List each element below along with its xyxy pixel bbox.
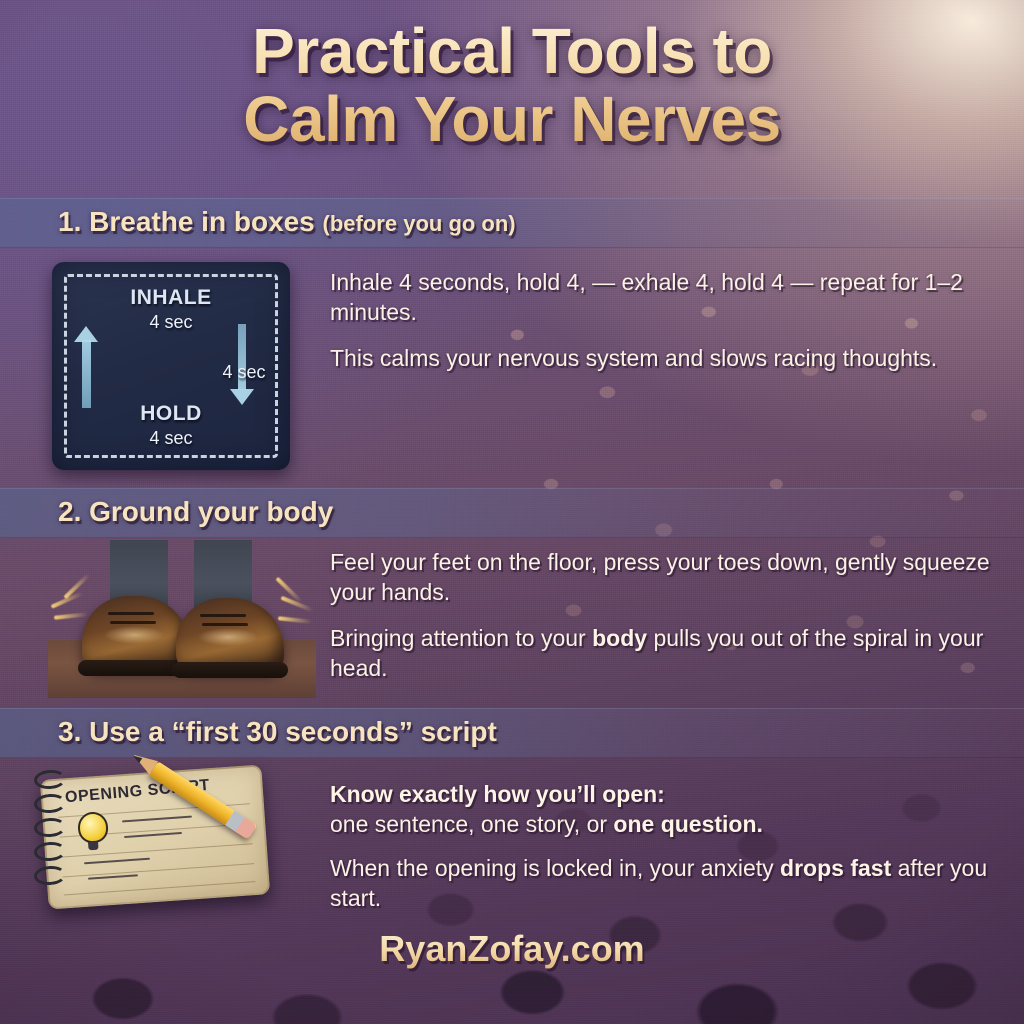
section-2-heading: 2. Ground your body	[58, 496, 333, 528]
grounded-feet-illustration	[48, 540, 316, 698]
section-3-heading: 3. Use a “first 30 seconds” script	[58, 716, 497, 748]
s2-p2-bold: body	[592, 625, 647, 651]
section-2-heading-main: 2. Ground your body	[58, 496, 333, 527]
arrow-up-icon	[82, 340, 91, 408]
s3-p2-pre: When the opening is locked in, your anxi…	[330, 855, 780, 881]
section-2-paragraph-1: Feel your feet on the floor, press your …	[330, 548, 1020, 608]
section-2-paragraph-2: Bringing attention to your body pulls yo…	[330, 624, 1020, 684]
notepad-rule	[63, 863, 255, 877]
page-title: Practical Tools to Calm Your Nerves	[0, 18, 1024, 154]
shoe-lace	[202, 623, 248, 626]
spark-line	[54, 612, 88, 620]
section-3-heading-main: 3. Use a “first 30 seconds” script	[58, 716, 497, 747]
shoe-shine-left	[104, 626, 164, 644]
title-line-1: Practical Tools to	[0, 18, 1024, 86]
shoe-lace	[110, 621, 156, 624]
section-1-paragraph-2: This calms your nervous system and slows…	[330, 344, 1020, 374]
shoe-lace	[108, 612, 154, 615]
section-1-heading-main: 1. Breathe in boxes	[58, 206, 315, 237]
s3-p2-bold: drops fast	[780, 855, 891, 881]
notepad-page: OPENING SCRIPT	[40, 764, 271, 909]
infographic-poster: Practical Tools to Calm Your Nerves 1. B…	[0, 0, 1024, 1024]
section-3-body: Know exactly how you’ll open:one sentenc…	[330, 780, 1020, 928]
section-1-paragraph-1: Inhale 4 seconds, hold 4, — exhale 4, ho…	[330, 268, 1020, 328]
s2-p2-pre: Bringing attention to your	[330, 625, 592, 651]
hold-label: HOLD	[52, 402, 290, 426]
s3-p1-mid: one sentence, one story, or	[330, 811, 613, 837]
shoe-lace	[200, 614, 246, 617]
shoe-left	[82, 596, 190, 670]
s3-p1-bold: Know exactly how you’ll open:	[330, 781, 665, 807]
website-footer[interactable]: RyanZofay.com	[0, 928, 1024, 970]
shoe-sole-right	[172, 662, 288, 678]
inhale-label: INHALE	[52, 286, 290, 310]
section-1-heading: 1. Breathe in boxes (before you go on)	[58, 206, 516, 238]
title-line-2: Calm Your Nerves	[0, 86, 1024, 154]
s3-p1-bold2: one question.	[613, 811, 763, 837]
opening-script-notepad: OPENING SCRIPT	[26, 768, 276, 914]
section-1-heading-sub: (before you go on)	[323, 211, 516, 236]
box-breathing-diagram: INHALE 4 sec 4 sec HOLD 4 sec	[52, 262, 290, 470]
shoe-right	[176, 598, 284, 672]
hold-seconds-label: 4 sec	[52, 428, 290, 449]
section-2-body: Feel your feet on the floor, press your …	[330, 548, 1020, 700]
right-seconds-label: 4 sec	[206, 362, 282, 383]
shoe-shine-right	[198, 628, 258, 646]
spark-line	[278, 616, 312, 624]
section-1-body: Inhale 4 seconds, hold 4, — exhale 4, ho…	[330, 268, 1020, 390]
section-3-paragraph-1: Know exactly how you’ll open:one sentenc…	[330, 780, 1020, 840]
section-3-paragraph-2: When the opening is locked in, your anxi…	[330, 854, 1020, 914]
notepad-rule	[64, 881, 256, 895]
